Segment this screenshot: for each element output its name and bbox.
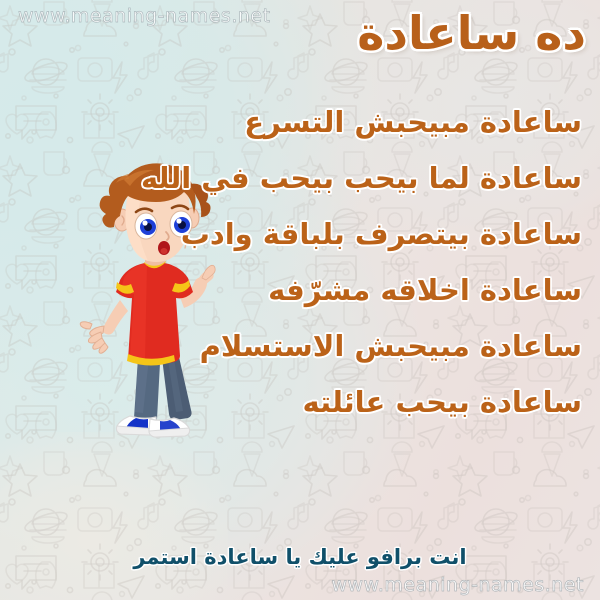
watermark-top-left: www.meaning-names.net <box>18 5 271 27</box>
poster-canvas: www.meaning-names.net ده ساعادة <box>0 0 600 600</box>
page-title: ده ساعادة <box>357 6 586 60</box>
meaning-line-5: ساعادة مبيحبش الاستسلام <box>30 332 590 361</box>
watermark-bottom-right: www.meaning-names.net <box>331 574 584 596</box>
meaning-line-1: ساعادة مبيحبش التسرع <box>30 108 590 137</box>
meaning-line-4: ساعادة اخلاقه مشرّفه <box>30 276 590 305</box>
meaning-line-6: ساعادة بيحب عائلته <box>30 388 590 417</box>
meaning-line-3: ساعادة بيتصرف بلباقة وادب <box>30 220 590 249</box>
meaning-lines-list: ساعادة مبيحبش التسرع ساعادة لما بيحب بيح… <box>30 108 590 417</box>
meaning-line-2: ساعادة لما بيحب بيحب في الله <box>30 164 590 193</box>
footer-message: انت برافو عليك يا ساعادة استمر <box>0 545 600 569</box>
